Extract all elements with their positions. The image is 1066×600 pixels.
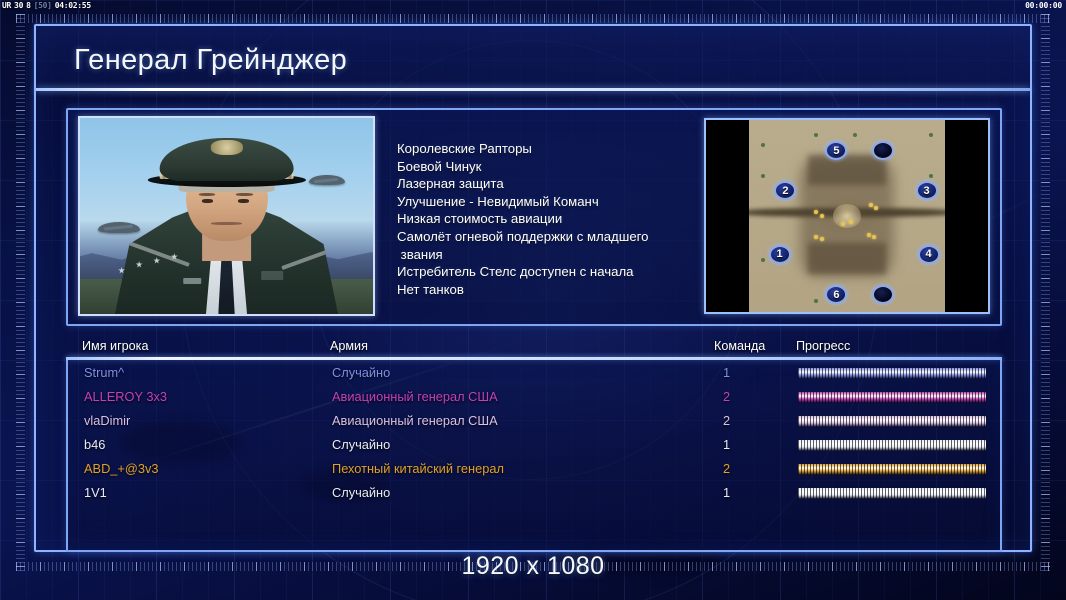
ruler-top — [16, 14, 1050, 23]
aircraft-icon — [309, 175, 345, 185]
player-progress-bar — [798, 416, 986, 427]
column-header-name: Имя игрока — [82, 339, 148, 353]
minimap-tree-icon — [761, 258, 765, 262]
column-header-army: Армия — [330, 339, 368, 353]
column-header-progress: Прогресс — [796, 339, 850, 353]
table-row[interactable]: b46Случайно1 — [68, 434, 1000, 458]
general-eye — [238, 199, 249, 203]
minimap-resource-icon — [841, 222, 845, 226]
progress-hatch — [798, 368, 986, 379]
minimap-start-position-1[interactable]: 1 — [769, 245, 791, 264]
player-army: Случайно — [332, 365, 390, 380]
status-elapsed-time: 04:02:55 — [55, 1, 91, 10]
aircraft-icon — [98, 222, 140, 233]
player-army: Авиационный генерал США — [332, 389, 498, 404]
game-lobby-screen: UR 30 8 [50] 04:02:55 00:00:00 Генерал Г… — [0, 0, 1066, 600]
player-army: Случайно — [332, 437, 390, 452]
table-row[interactable]: Strum^Случайно1 — [68, 362, 1000, 386]
player-progress-bar — [798, 368, 986, 379]
minimap-start-position-empty[interactable] — [872, 285, 894, 304]
general-abilities-list: Королевские Рапторы Боевой Чинук Лазерна… — [397, 140, 697, 298]
status-bar: UR 30 8 [50] 04:02:55 00:00:00 — [0, 0, 1066, 11]
player-army: Пехотный китайский генерал — [332, 461, 504, 476]
minimap-resource-icon — [869, 203, 873, 207]
table-row[interactable]: ALLEROY 3x3Авиационный генерал США2 — [68, 386, 1000, 410]
general-eye — [202, 199, 213, 203]
player-army: Случайно — [332, 485, 390, 500]
ability-item: Самолёт огневой поддержки с младшего зва… — [397, 228, 697, 263]
progress-hatch — [798, 416, 986, 427]
minimap-start-position-6[interactable]: 6 — [825, 285, 847, 304]
ability-item: Нет танков — [397, 281, 697, 299]
ability-item: Боевой Чинук — [397, 158, 697, 176]
player-name: vlaDimir — [84, 413, 130, 428]
player-team: 2 — [723, 413, 730, 428]
ruler-right — [1041, 14, 1050, 571]
player-team: 1 — [723, 437, 730, 452]
table-row[interactable]: 1V1Случайно1 — [68, 482, 1000, 506]
ruler-left — [16, 14, 25, 571]
player-table: Strum^Случайно1ALLEROY 3x3Авиационный ге… — [66, 360, 1002, 552]
minimap-start-position-4[interactable]: 4 — [918, 245, 940, 264]
minimap-start-position-3[interactable]: 3 — [916, 181, 938, 200]
rank-insignia — [123, 239, 190, 267]
resolution-label: 1920 x 1080 — [0, 552, 1066, 581]
general-eyebrow — [236, 193, 252, 196]
status-segment-1: 30 — [14, 1, 23, 10]
player-progress-bar — [798, 392, 986, 403]
player-progress-bar — [798, 440, 986, 451]
player-name: Strum^ — [84, 365, 124, 380]
player-team: 2 — [723, 461, 730, 476]
player-table-header: Имя игрока Армия Команда Прогресс — [66, 336, 1002, 356]
player-name: 1V1 — [84, 485, 107, 500]
ability-item: Низкая стоимость авиации — [397, 210, 697, 228]
minimap[interactable]: 5 2 3 1 4 6 — [704, 118, 990, 314]
minimap-resource-icon — [867, 233, 871, 237]
minimap-center-feature — [833, 204, 860, 227]
player-progress-bar — [798, 488, 986, 499]
progress-hatch — [798, 488, 986, 499]
title-divider — [36, 88, 1030, 91]
table-row[interactable]: ABD_+@3v3Пехотный китайский генерал2 — [68, 458, 1000, 482]
minimap-terrain: 5 2 3 1 4 6 — [749, 120, 945, 312]
status-segment-0: UR — [2, 1, 11, 10]
minimap-resource-icon — [820, 214, 824, 218]
minimap-tree-icon — [814, 133, 818, 137]
minimap-resource-icon — [814, 210, 818, 214]
progress-hatch — [798, 440, 986, 451]
player-name: ALLEROY 3x3 — [84, 389, 167, 404]
table-row[interactable]: vlaDimirАвиационный генерал США2 — [68, 410, 1000, 434]
minimap-start-position-2[interactable]: 2 — [774, 181, 796, 200]
ability-item: Лазерная защита — [397, 175, 697, 193]
minimap-shadow — [808, 155, 886, 186]
cap-eagle-badge — [210, 140, 242, 156]
uniform-ribbon — [262, 271, 284, 280]
progress-hatch — [798, 392, 986, 403]
general-eyebrow — [199, 193, 215, 196]
minimap-tree-icon — [929, 133, 933, 137]
ability-item: Истребитель Стелс доступен с начала — [397, 263, 697, 281]
minimap-resource-icon — [820, 237, 824, 241]
status-segment-2: 8 — [26, 1, 31, 10]
player-army: Авиационный генерал США — [332, 413, 498, 428]
minimap-resource-icon — [814, 235, 818, 239]
ability-item: Улучшение - Невидимый Команч — [397, 193, 697, 211]
status-clock: 00:00:00 — [1025, 0, 1062, 11]
minimap-tree-icon — [853, 133, 857, 137]
player-name: ABD_+@3v3 — [84, 461, 159, 476]
minimap-start-position-empty[interactable] — [872, 141, 894, 160]
ability-item: Королевские Рапторы — [397, 140, 697, 158]
player-name: b46 — [84, 437, 105, 452]
minimap-tree-icon — [761, 174, 765, 178]
page-title: Генерал Грейнджер — [74, 44, 347, 77]
status-segment-3: [50] — [34, 1, 52, 10]
status-bar-left: UR 30 8 [50] 04:02:55 — [0, 0, 91, 11]
player-team: 2 — [723, 389, 730, 404]
minimap-tree-icon — [929, 174, 933, 178]
player-progress-bar — [798, 464, 986, 475]
minimap-tree-icon — [814, 299, 818, 303]
column-header-team: Команда — [714, 339, 765, 353]
minimap-shadow — [808, 243, 886, 274]
player-team: 1 — [723, 485, 730, 500]
general-mouth — [211, 222, 242, 225]
general-portrait — [78, 116, 375, 316]
minimap-tree-icon — [761, 143, 765, 147]
progress-hatch — [798, 464, 986, 475]
uniform-label — [183, 278, 201, 284]
player-team: 1 — [723, 365, 730, 380]
minimap-resource-icon — [849, 220, 853, 224]
